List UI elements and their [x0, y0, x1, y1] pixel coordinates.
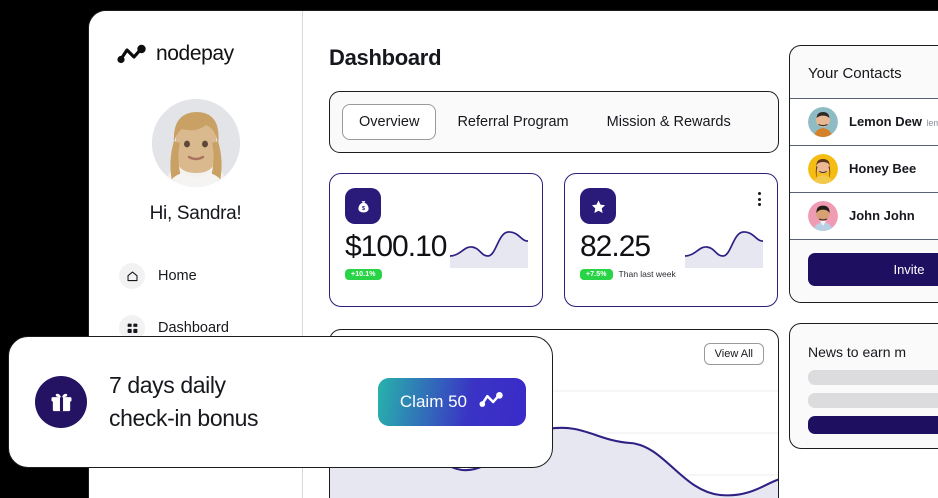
status-badge: +10.1%	[345, 269, 382, 280]
stat-card-points-footer: +7.5% Than last week	[580, 269, 762, 280]
contacts-panel-footer: Invite	[790, 240, 938, 302]
right-rail: Your Contacts Lemon Dew lemondew	[789, 45, 938, 449]
stat-card-earnings[interactable]: $ $100.10 +10.1%	[329, 173, 543, 307]
gift-icon	[35, 376, 87, 428]
brand-name: nodepay	[156, 42, 234, 66]
nodepay-zigzag-logo-icon	[479, 391, 504, 413]
contact-avatar-3-icon	[808, 201, 838, 231]
contact-info: Honey Bee	[849, 160, 916, 178]
tab-bar: Overview Referral Program Mission & Rewa…	[329, 91, 779, 153]
contact-avatar-2-icon	[808, 154, 838, 184]
tab-overview[interactable]: Overview	[342, 104, 436, 140]
brand: nodepay	[89, 37, 302, 71]
status-badge: +7.5%	[580, 269, 613, 280]
news-action-button[interactable]	[808, 416, 938, 434]
sparkline-chart	[450, 226, 528, 268]
bonus-banner: 7 days daily check-in bonus Claim 50	[8, 336, 553, 468]
contact-email: lemondew12@	[926, 118, 938, 128]
sparkline-chart	[685, 226, 763, 268]
bonus-text: 7 days daily check-in bonus	[109, 369, 258, 434]
claim-bonus-button[interactable]: Claim 50	[378, 378, 526, 426]
nodepay-zigzag-logo-icon	[117, 44, 147, 64]
money-bag-icon: $	[345, 188, 381, 224]
contact-avatar-1-icon	[808, 107, 838, 137]
news-panel-body	[790, 370, 938, 448]
contact-info: John John	[849, 207, 915, 225]
more-vertical-icon[interactable]	[758, 192, 761, 206]
news-panel-title: News to earn m	[790, 324, 938, 370]
invite-button[interactable]: Invite	[808, 253, 938, 286]
home-icon	[119, 263, 145, 289]
list-item[interactable]: Honey Bee	[790, 146, 938, 193]
list-item[interactable]: Lemon Dew lemondew12@	[790, 99, 938, 146]
sidebar-item-dashboard-label: Dashboard	[158, 320, 229, 336]
contacts-panel-title: Your Contacts	[790, 46, 938, 99]
news-placeholder-bar	[808, 393, 938, 408]
claim-bonus-label: Claim 50	[400, 392, 467, 412]
avatar-wrapper	[89, 99, 302, 187]
greeting: Hi, Sandra!	[89, 203, 302, 225]
contact-info: Lemon Dew lemondew12@	[849, 113, 938, 131]
contact-name: Honey Bee	[849, 161, 916, 176]
tab-referral-program[interactable]: Referral Program	[440, 104, 585, 140]
sidebar-item-home-label: Home	[158, 268, 197, 284]
contacts-panel: Your Contacts Lemon Dew lemondew	[789, 45, 938, 303]
svg-text:$: $	[362, 206, 365, 212]
stat-card-points[interactable]: 82.25 +7.5% Than last week	[564, 173, 778, 307]
sidebar-item-home[interactable]: Home	[89, 255, 302, 297]
view-all-button[interactable]: View All	[704, 343, 764, 365]
sidebar-nav: Home Dashboard	[89, 255, 302, 349]
news-panel: News to earn m	[789, 323, 938, 449]
tab-mission-rewards[interactable]: Mission & Rewards	[590, 104, 748, 140]
badge-note: Than last week	[619, 269, 676, 279]
star-icon	[580, 188, 616, 224]
contact-name: Lemon Dew	[849, 114, 922, 129]
contact-name: John John	[849, 208, 915, 223]
stat-card-earnings-footer: +10.1%	[345, 269, 527, 280]
avatar	[152, 99, 240, 187]
news-placeholder-bar	[808, 370, 938, 385]
list-item[interactable]: John John	[790, 193, 938, 240]
